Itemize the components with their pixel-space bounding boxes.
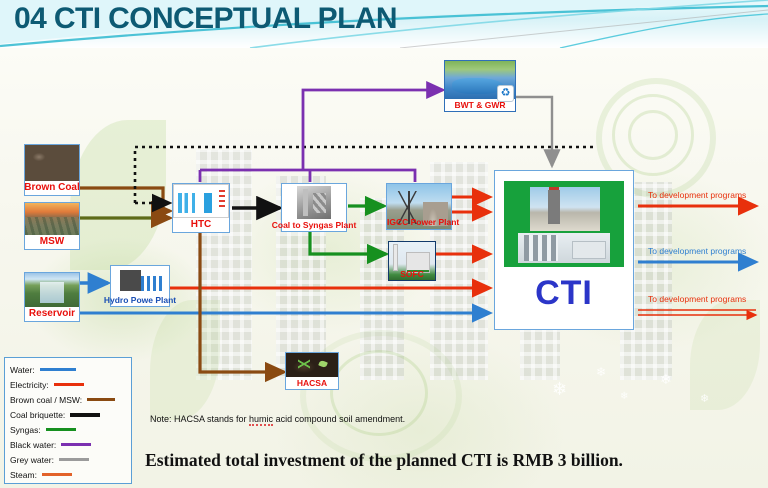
note-suffix: acid compound soil amendment.	[273, 414, 405, 424]
legend-swatch-syngas	[46, 428, 76, 431]
hacsa-note: Note: HACSA stands for humic acid compou…	[150, 414, 405, 424]
investment-statement: Estimated total investment of the planne…	[0, 450, 768, 471]
legend-item-brown-coal-msw: Brown coal / MSW:	[10, 392, 126, 407]
hydro-plant-icon	[111, 266, 169, 294]
legend-item-water: Water:	[10, 362, 126, 377]
node-coal-to-syngas-plant[interactable]: Coal to Syngas Plant	[281, 183, 347, 232]
node-brown-coal[interactable]: Brown Coal	[24, 144, 80, 196]
node-reservoir[interactable]: Reservoir	[24, 272, 80, 322]
legend-swatch-coal-briquette	[70, 413, 100, 417]
node-label: Brown Coal	[24, 181, 80, 195]
cti-label: CTI	[535, 273, 593, 313]
node-label: HACSA	[297, 377, 327, 389]
legend-swatch-steam	[42, 473, 72, 476]
note-prefix: Note: HACSA stands for	[150, 414, 249, 424]
slide-canvas: ❄ ❄ ❄ ❄ ❄ 04 CTI CONCEPTUAL PLAN	[0, 0, 768, 488]
legend-item-electricity: Electricity:	[10, 377, 126, 392]
recycle-icon: ♻	[497, 85, 514, 102]
brown-coal-photo	[25, 145, 79, 181]
node-sofc[interactable]: SOFC	[388, 241, 436, 281]
legend-swatch-electricity	[54, 383, 84, 386]
legend-label: Electricity:	[10, 380, 49, 390]
node-label: Coal to Syngas Plant	[272, 219, 357, 231]
legend-label: Brown coal / MSW:	[10, 395, 82, 405]
node-msw[interactable]: MSW	[24, 202, 80, 250]
node-htc[interactable]: HTC	[172, 183, 230, 233]
node-label: MSW	[40, 235, 64, 249]
node-label: Hydro Powe Plant	[104, 294, 176, 306]
legend-label: Water:	[10, 365, 35, 375]
legend-item-coal-briquette: Coal briquette:	[10, 407, 126, 422]
legend-swatch-water	[40, 368, 76, 371]
node-cti[interactable]: CTI	[494, 170, 634, 330]
legend-label: Coal briquette:	[10, 410, 65, 420]
msw-photo	[25, 203, 79, 235]
industrial-tanks-photo	[518, 233, 610, 263]
legend-swatch-black-water	[61, 443, 91, 446]
htc-chart-icon	[173, 184, 229, 218]
cti-image-panel	[504, 181, 624, 267]
node-label: IGCC Power Plant	[387, 216, 451, 228]
note-misspelled-word: humic	[249, 414, 273, 426]
legend-swatch-brown-coal	[87, 398, 115, 401]
soil-seedling-photo	[286, 353, 338, 377]
node-hacsa[interactable]: HACSA	[285, 352, 339, 390]
node-hydro-power-plant[interactable]: Hydro Powe Plant	[110, 265, 170, 307]
node-label: SOFC	[389, 268, 435, 280]
legend-label: Syngas:	[10, 425, 41, 435]
node-label: HTC	[191, 218, 212, 232]
legend-label: Steam:	[10, 470, 37, 480]
syngas-plant-photo	[297, 186, 331, 219]
reservoir-photo	[25, 273, 79, 307]
output-label-water: To development programs	[648, 246, 746, 256]
node-igcc-power-plant[interactable]: IGCC Power Plant	[386, 183, 452, 230]
node-label: Reservoir	[29, 307, 75, 321]
industrial-plant-photo	[530, 187, 600, 231]
output-label-electricity: To development programs	[648, 190, 746, 200]
node-bwt-gwr[interactable]: BWT & GWR ♻	[444, 60, 516, 112]
legend-label: Black water:	[10, 440, 56, 450]
output-label-steam: To development programs	[648, 294, 746, 304]
legend-item-syngas: Syngas:	[10, 422, 126, 437]
